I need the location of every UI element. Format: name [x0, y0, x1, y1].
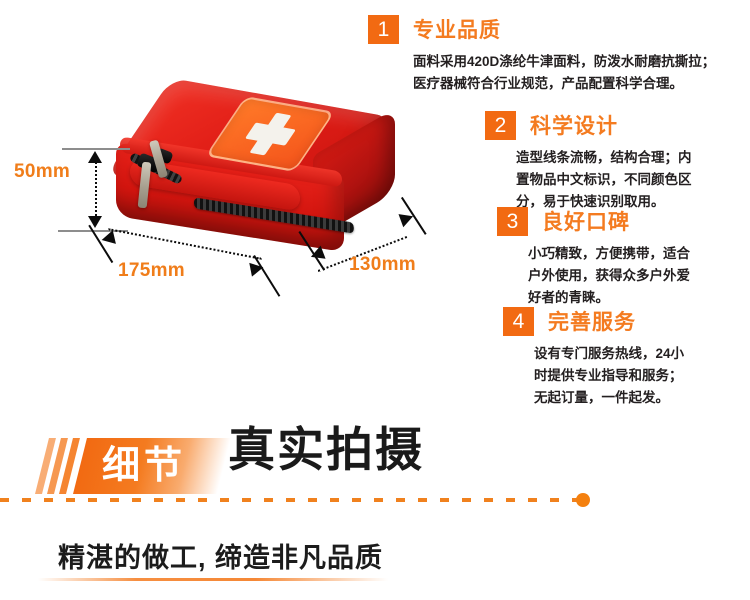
feature-block-4: 4 完善服务 设有专门服务热线，24小 时提供专业指导和服务； 无起订量，一件起… — [503, 306, 684, 409]
feature-4-line-2: 时提供专业指导和服务； — [534, 365, 684, 387]
product-detail-page: 50mm 175mm 130mm 1 专业品质 面料采用420D涤纶牛津面料，防… — [0, 0, 750, 600]
dimension-label-depth: 130mm — [349, 254, 416, 276]
banner-badge-label: 细节 — [102, 443, 222, 489]
feature-3-title: 良好口碑 — [542, 206, 630, 236]
feature-4-line-1: 设有专门服务热线，24小 — [534, 343, 684, 365]
feature-block-3: 3 良好口碑 小巧精致，方便携带，适合 户外使用，获得众多户外爱 好者的青睐。 — [497, 206, 690, 309]
feature-1-number-badge: 1 — [368, 15, 399, 44]
feature-1-line-2: 医疗器械符合行业规范，产品配置科学合理。 — [413, 73, 715, 95]
dimension-arrow-height-up — [88, 151, 102, 163]
feature-2-title: 科学设计 — [530, 110, 618, 140]
feature-3-description: 小巧精致，方便携带，适合 户外使用，获得众多户外爱 好者的青睐。 — [528, 243, 690, 309]
feature-2-number-badge: 2 — [485, 111, 516, 140]
banner-subtitle-underline — [38, 578, 388, 581]
feature-2-line-2: 置物品中文标识，不同颜色区 — [516, 169, 692, 191]
feature-1-line-1: 面料采用420D涤纶牛津面料，防泼水耐磨抗撕拉； — [413, 51, 715, 73]
banner-headline: 真实拍摄 — [228, 426, 424, 473]
banner-badge-graphic: 细节 — [42, 438, 222, 494]
feature-1-description: 面料采用420D涤纶牛津面料，防泼水耐磨抗撕拉； 医疗器械符合行业规范，产品配置… — [413, 51, 715, 95]
banner-subtitle: 精湛的做工, 缔造非凡品质 — [58, 536, 383, 575]
first-aid-kit-product-photo — [108, 98, 408, 278]
feature-4-heading: 4 完善服务 — [503, 306, 684, 336]
detail-section-banner: 细节 真实拍摄 精湛的做工, 缔造非凡品质 — [0, 410, 750, 600]
feature-2-description: 造型线条流畅，结构合理；内 置物品中文标识，不同颜色区 分，易于快速识别取用。 — [516, 147, 692, 213]
banner-dotted-divider — [0, 498, 580, 502]
feature-2-line-1: 造型线条流畅，结构合理；内 — [516, 147, 692, 169]
feature-3-number-badge: 3 — [497, 207, 528, 236]
dimension-label-width: 175mm — [118, 260, 185, 282]
dimension-label-height: 50mm — [14, 161, 70, 183]
feature-4-description: 设有专门服务热线，24小 时提供专业指导和服务； 无起订量，一件起发。 — [534, 343, 684, 409]
feature-3-heading: 3 良好口碑 — [497, 206, 690, 236]
feature-2-heading: 2 科学设计 — [485, 110, 692, 140]
dimension-line-height — [95, 158, 97, 220]
feature-3-line-1: 小巧精致，方便携带，适合 — [528, 243, 690, 265]
feature-3-line-2: 户外使用，获得众多户外爱 — [528, 265, 690, 287]
dimension-arrow-width-right — [249, 260, 264, 276]
dimension-arrow-width-left — [100, 230, 116, 247]
cross-icon-horizontal-bar — [245, 123, 296, 146]
feature-4-title: 完善服务 — [548, 306, 636, 336]
feature-block-2: 2 科学设计 造型线条流畅，结构合理；内 置物品中文标识，不同颜色区 分，易于快… — [485, 110, 692, 213]
feature-1-heading: 1 专业品质 — [368, 14, 715, 44]
feature-block-1: 1 专业品质 面料采用420D涤纶牛津面料，防泼水耐磨抗撕拉； 医疗器械符合行业… — [368, 14, 715, 95]
banner-divider-end-dot — [576, 493, 590, 507]
feature-4-line-3: 无起订量，一件起发。 — [534, 387, 684, 409]
dimension-extension-line-top — [62, 148, 130, 150]
feature-1-title: 专业品质 — [413, 14, 501, 44]
feature-4-number-badge: 4 — [503, 307, 534, 336]
